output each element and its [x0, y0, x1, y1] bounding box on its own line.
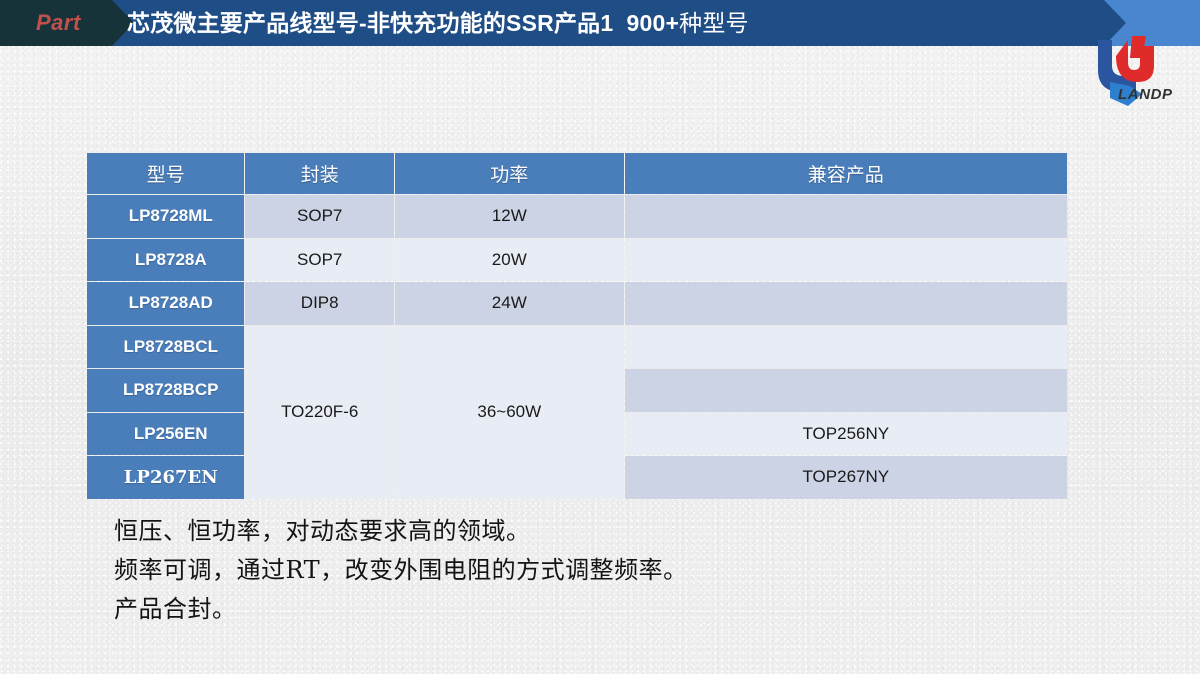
cell-power: 12W — [395, 195, 624, 238]
cell-compatible: TOP267NY — [625, 456, 1067, 499]
page-title-main: 芯茂微主要产品线型号-非快充功能的SSR产品1 — [127, 10, 613, 36]
cell-package: DIP8 — [245, 282, 393, 325]
slide-header: Part 芯茂微主要产品线型号-非快充功能的SSR产品1 900+种型号 — [0, 0, 1200, 46]
page-title-suffix: 种型号 — [679, 10, 749, 36]
table-row: LP8728BCL TO220F-6 36~60W — [87, 326, 1067, 369]
table-body: LP8728ML SOP7 12W LP8728A SOP7 20W LP872… — [87, 195, 1067, 499]
cell-model: LP8728AD — [87, 282, 244, 325]
note-line-2: 频率可调，通过RT，改变外围电阻的方式调整频率。 — [114, 551, 1014, 590]
column-header-power: 功率 — [395, 153, 624, 194]
column-header-package: 封装 — [245, 153, 393, 194]
product-table: 型号 封装 功率 兼容产品 LP8728ML SOP7 12W LP8728A … — [86, 152, 1068, 500]
cell-model: LP267EN — [87, 456, 244, 499]
cell-compatible — [625, 282, 1067, 325]
page-title-count: 900+ — [613, 10, 679, 36]
cell-package: SOP7 — [245, 239, 393, 282]
cell-compatible: TOP256NY — [625, 413, 1067, 456]
table-row: LP8728ML SOP7 12W — [87, 195, 1067, 238]
column-header-model: 型号 — [87, 153, 244, 194]
cell-model: LP8728BCP — [87, 369, 244, 412]
table-row: LP8728AD DIP8 24W — [87, 282, 1067, 325]
cell-power-merged: 36~60W — [395, 326, 624, 499]
landp-logo-text: LANDP — [1118, 86, 1173, 104]
column-header-compatible: 兼容产品 — [625, 153, 1067, 194]
page-title: 芯茂微主要产品线型号-非快充功能的SSR产品1 900+种型号 — [127, 7, 749, 39]
cell-compatible — [625, 239, 1067, 282]
cell-model: LP8728BCL — [87, 326, 244, 369]
cell-power: 20W — [395, 239, 624, 282]
notes-block: 恒压、恒功率，对动态要求高的领域。 频率可调，通过RT，改变外围电阻的方式调整频… — [114, 512, 1014, 629]
note-line-1: 恒压、恒功率，对动态要求高的领域。 — [114, 512, 1014, 551]
part-label: Part — [36, 8, 81, 38]
cell-package: SOP7 — [245, 195, 393, 238]
cell-model: LP8728A — [87, 239, 244, 282]
cell-package-merged: TO220F-6 — [245, 326, 393, 499]
cell-compatible — [625, 326, 1067, 369]
table-header-row: 型号 封装 功率 兼容产品 — [87, 153, 1067, 194]
cell-power: 24W — [395, 282, 624, 325]
note-line-3: 产品合封。 — [114, 590, 1014, 629]
landp-logo: LANDP — [1072, 36, 1196, 114]
cell-model: LP256EN — [87, 413, 244, 456]
cell-compatible — [625, 369, 1067, 412]
cell-compatible — [625, 195, 1067, 238]
table-row: LP8728A SOP7 20W — [87, 239, 1067, 282]
cell-model: LP8728ML — [87, 195, 244, 238]
